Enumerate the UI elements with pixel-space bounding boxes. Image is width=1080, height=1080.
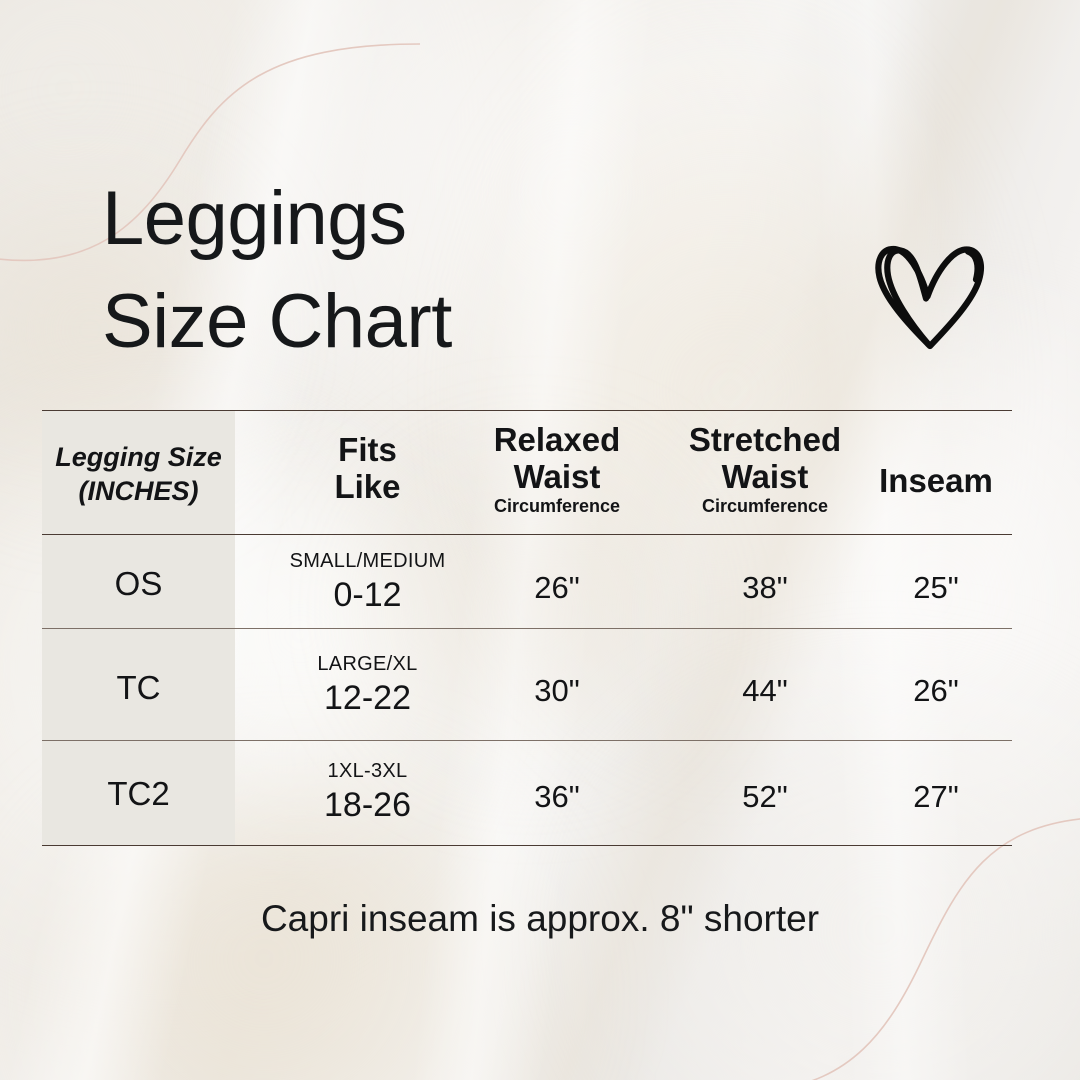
cell-stretched-waist: 52" (655, 779, 875, 815)
cell-fits-like: 1XL-3XL 18-26 (275, 760, 460, 825)
column-header-size: Legging Size (INCHES) (42, 441, 235, 509)
cell-inseam: 25" (860, 570, 1012, 606)
column-header-relaxed-waist-title: Relaxed Waist (447, 422, 667, 496)
cell-fits-like: LARGE/XL 12-22 (275, 653, 460, 718)
column-header-stretched-waist-subtitle: Circumference (655, 497, 875, 517)
column-header-inseam: Inseam (860, 463, 1012, 500)
cell-relaxed-waist: 30" (447, 673, 667, 709)
table-rule-row-2 (42, 740, 1012, 741)
cell-fits-like-label: LARGE/XL (275, 653, 460, 676)
page-title-line-2: Size Chart (102, 279, 452, 364)
column-header-stretched-waist-title: Stretched Waist (655, 422, 875, 496)
table-rule-bottom (42, 845, 1012, 846)
column-header-stretched-waist: Stretched Waist Circumference (655, 422, 875, 517)
table-rule-header (42, 534, 1012, 535)
page-title-line-1: Leggings (102, 176, 407, 261)
cell-inseam: 27" (860, 779, 1012, 815)
cell-stretched-waist: 44" (655, 673, 875, 709)
cell-stretched-waist: 38" (655, 570, 875, 606)
footer-note: Capri inseam is approx. 8" shorter (0, 898, 1080, 940)
table-rule-row-1 (42, 628, 1012, 629)
cell-fits-like-range: 18-26 (275, 786, 460, 825)
cell-fits-like-label: SMALL/MEDIUM (275, 550, 460, 573)
cell-fits-like-label: 1XL-3XL (275, 760, 460, 783)
cell-size: OS (42, 565, 235, 603)
size-chart-canvas: Leggings Size Chart Legging Size (INCHES… (0, 0, 1080, 1080)
table-rule-top (42, 410, 1012, 411)
cell-relaxed-waist: 36" (447, 779, 667, 815)
heart-doodle-icon (869, 228, 991, 356)
column-header-fits-like: Fits Like (275, 432, 460, 506)
page-title: Leggings Size Chart (102, 168, 452, 373)
cell-fits-like-range: 12-22 (275, 679, 460, 718)
column-header-relaxed-waist: Relaxed Waist Circumference (447, 422, 667, 517)
column-header-relaxed-waist-subtitle: Circumference (447, 497, 667, 517)
cell-relaxed-waist: 26" (447, 570, 667, 606)
cell-fits-like: SMALL/MEDIUM 0-12 (275, 550, 460, 615)
cell-size: TC (42, 669, 235, 707)
cell-fits-like-range: 0-12 (275, 576, 460, 615)
cell-size: TC2 (42, 775, 235, 813)
cell-inseam: 26" (860, 673, 1012, 709)
